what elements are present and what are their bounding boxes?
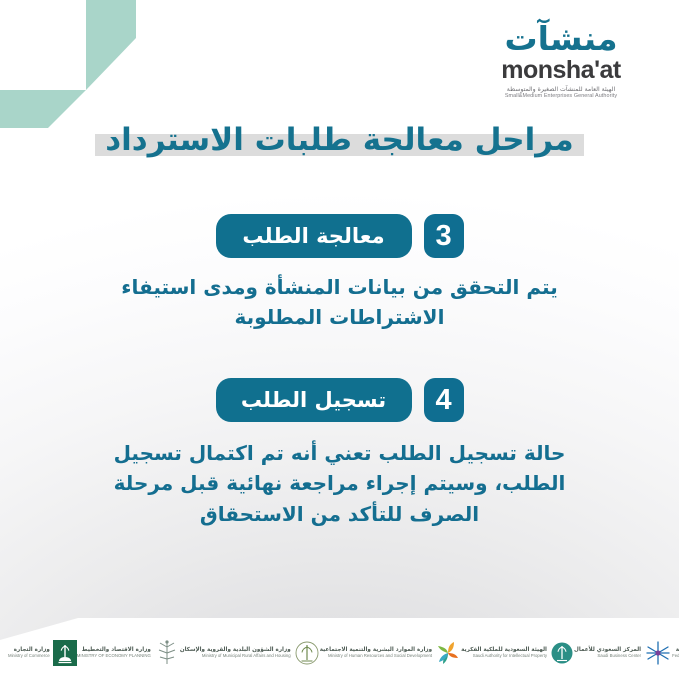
partner-name-en: Saudi Business Center	[574, 654, 641, 659]
step-3-body: يتم التحقق من بيانات المنشأة ومدى استيفا…	[101, 272, 579, 333]
step-4-label: تسجيل الطلب	[216, 378, 412, 422]
step-4-header: 4 تسجيل الطلب	[0, 378, 679, 422]
step-3-label: معالجة الطلب	[216, 214, 412, 258]
page-title: مراحل معالجة طلبات الاسترداد	[0, 122, 679, 158]
mint-shape-upper	[86, 0, 136, 90]
monshaat-logo: منشآت monsha'at الهيئة العامة للمنشآت ال…	[471, 22, 651, 100]
saudi-emblem-icon	[53, 640, 77, 666]
step-4-body: حالة تسجيل الطلب تعني أنه تم اكتمال تسجي…	[90, 438, 590, 529]
municipal-rural-icon	[294, 639, 320, 667]
economy-planning-icon	[154, 639, 180, 667]
partner-name-en: Ministry of Human Resources and Social D…	[320, 654, 432, 659]
step-3: 3 معالجة الطلب يتم التحقق من بيانات المن…	[0, 214, 679, 333]
partner-ministry-economy-planning: وزارة الاقتصاد والتخطيط MINISTRY OF ECON…	[77, 639, 180, 667]
logo-latin-wordmark: monsha'at	[471, 58, 651, 83]
partner-saudi-business-center: المركز السعودي للأعمال Saudi Business Ce…	[574, 640, 672, 666]
partner-human-resources: وزارة الموارد البشرية والتنمية الاجتماعي…	[320, 640, 461, 666]
business-center-icon	[644, 640, 672, 666]
partner-intellectual-property: الهيئة السعودية للملكية الفكرية Saudi Au…	[461, 640, 574, 666]
infographic-canvas: منشآت monsha'at الهيئة العامة للمنشآت ال…	[0, 0, 679, 680]
partner-name-en: Ministry of Commerce	[8, 654, 50, 659]
step-3-number: 3	[424, 214, 464, 258]
partner-logos: وزارة التجارة Ministry of Commerce وزارة…	[0, 630, 679, 676]
footer-strip: وزارة التجارة Ministry of Commerce وزارة…	[0, 618, 679, 680]
partner-ministry-of-commerce: وزارة التجارة Ministry of Commerce	[8, 640, 77, 666]
page-title-text: مراحل معالجة طلبات الاسترداد	[105, 122, 573, 158]
intellectual-property-icon	[550, 640, 574, 666]
step-3-header: 3 معالجة الطلب	[0, 214, 679, 258]
step-4-number: 4	[424, 378, 464, 422]
logo-arabic-wordmark: منشآت	[471, 22, 651, 55]
partner-federation-saudi-chambers: اتحاد الغرف التجارية السعودية Federation…	[672, 640, 679, 666]
partner-name-en: Federation of Saudi Chambers of Commerce	[672, 654, 679, 659]
human-resources-icon	[435, 640, 461, 666]
partner-name-en: Saudi Authority for Intellectual Propert…	[461, 654, 547, 659]
partner-ministry-municipal-rural: وزارة الشؤون البلدية والقروية والإسكان M…	[180, 639, 320, 667]
logo-authority-english: Small&Medium Enterprises General Authori…	[471, 94, 651, 99]
partner-name-en: Ministry of Municipal Rural Affairs and …	[180, 654, 291, 659]
step-4: 4 تسجيل الطلب حالة تسجيل الطلب تعني أنه …	[0, 378, 679, 529]
partner-name-en: MINISTRY OF ECONOMY PLANNING	[77, 654, 151, 659]
